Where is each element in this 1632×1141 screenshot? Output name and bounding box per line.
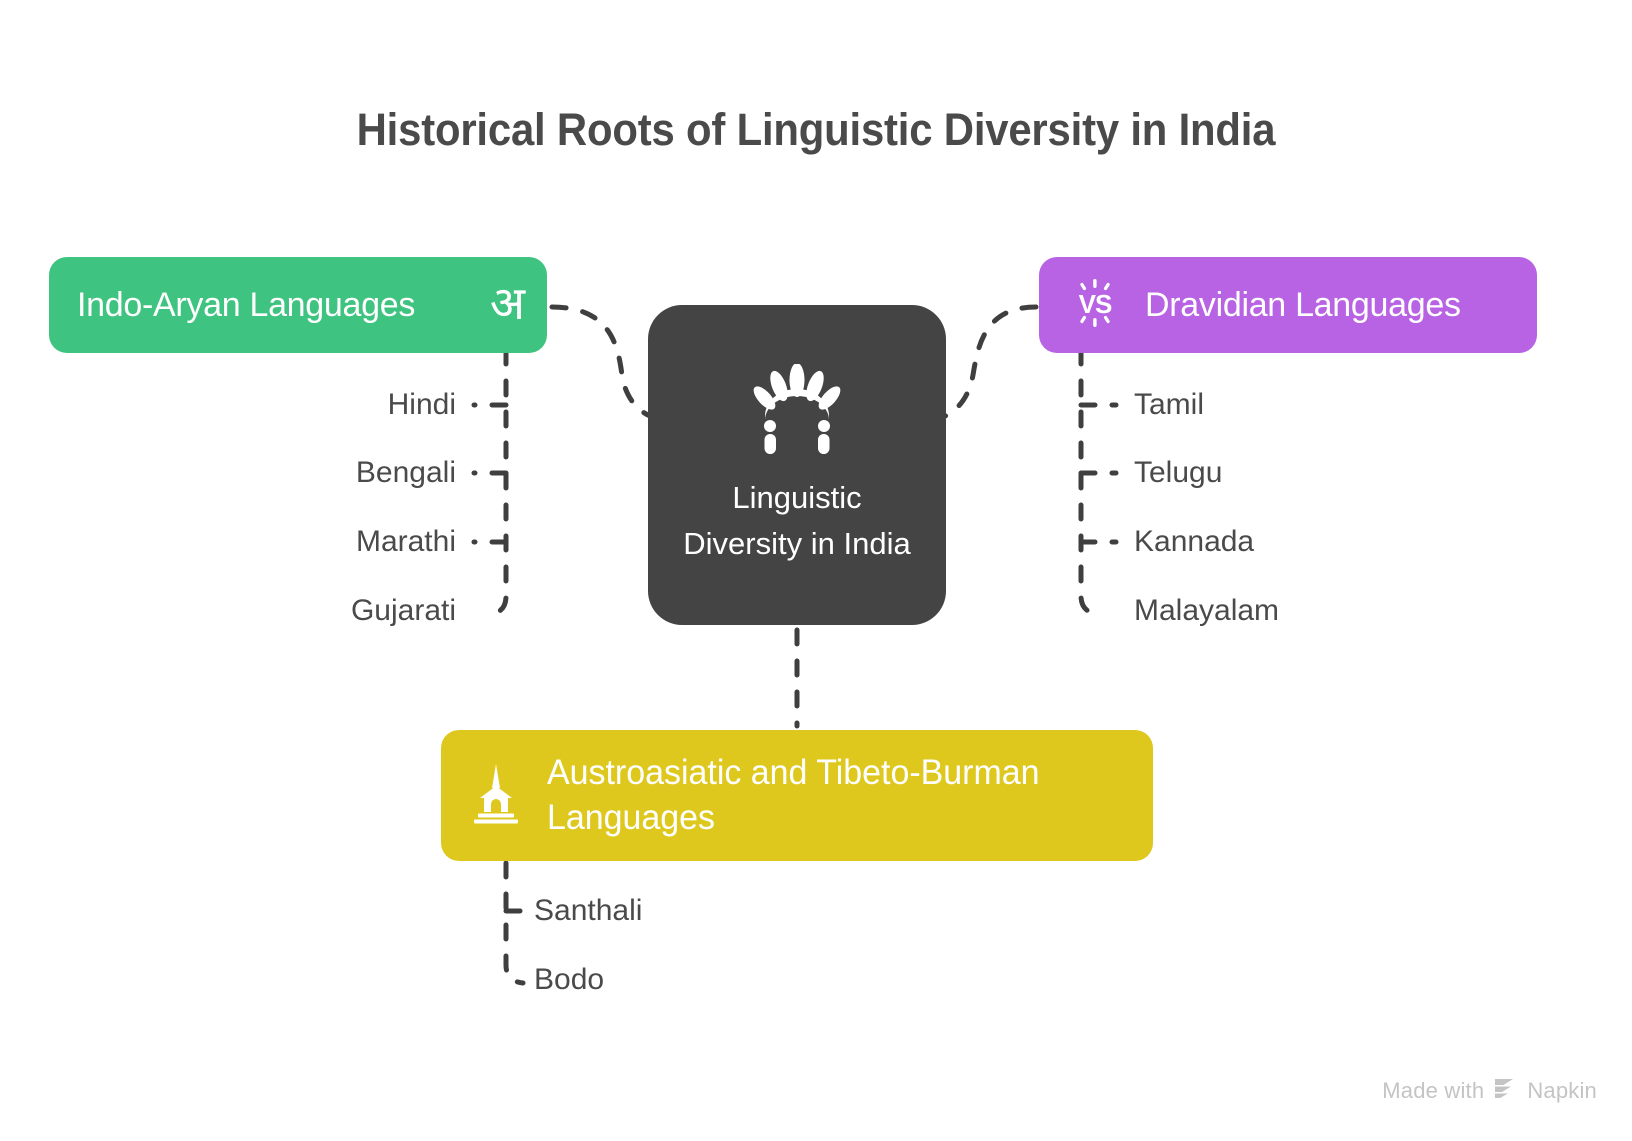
center-node-label: Linguistic Diversity in India	[682, 475, 912, 567]
devanagari-a-icon: अ	[490, 280, 525, 330]
trunk-dravidian	[1081, 350, 1098, 614]
branch-node-dravidian[interactable]: VS Dravidian Languages	[1039, 257, 1537, 353]
diagram-canvas: Historical Roots of Linguistic Diversity…	[0, 0, 1632, 1141]
leaf-bodo: Bodo	[534, 965, 604, 995]
branch-label-indo-aryan: Indo-Aryan Languages	[77, 286, 415, 325]
branch-node-indo-aryan[interactable]: Indo-Aryan Languages अ	[49, 257, 547, 353]
leaf-tamil: Tamil	[1134, 390, 1204, 420]
center-node[interactable]: Linguistic Diversity in India	[648, 305, 946, 625]
trunk-indo-aryan	[490, 350, 506, 614]
branch-label-austroasiatic: Austroasiatic and Tibeto-Burman Language…	[547, 751, 1110, 841]
page-title: Historical Roots of Linguistic Diversity…	[57, 104, 1575, 156]
leaf-gujarati: Gujarati	[351, 596, 456, 626]
leaf-telugu: Telugu	[1134, 458, 1222, 488]
headdress-icon	[751, 364, 843, 459]
branch-label-dravidian: Dravidian Languages	[1145, 286, 1461, 325]
svg-text:VS: VS	[1079, 289, 1112, 319]
branch-node-austroasiatic[interactable]: Austroasiatic and Tibeto-Burman Language…	[441, 730, 1153, 861]
watermark-prefix: Made with	[1382, 1078, 1484, 1104]
trunk-austroasiatic	[506, 863, 523, 983]
watermark-brand: Napkin	[1527, 1078, 1597, 1104]
napkin-chevron-logo	[1493, 1077, 1518, 1105]
leaf-santhali: Santhali	[534, 896, 642, 926]
leaf-marathi: Marathi	[356, 527, 456, 557]
napkin-watermark: Made with Napkin	[1382, 1077, 1597, 1105]
vs-sparkle-icon: VS	[1071, 277, 1119, 334]
leaf-hindi: Hindi	[388, 390, 456, 420]
leaf-bengali: Bengali	[356, 458, 456, 488]
leaf-malayalam: Malayalam	[1134, 596, 1279, 626]
leaf-kannada: Kannada	[1134, 527, 1254, 557]
temple-icon	[471, 762, 521, 829]
